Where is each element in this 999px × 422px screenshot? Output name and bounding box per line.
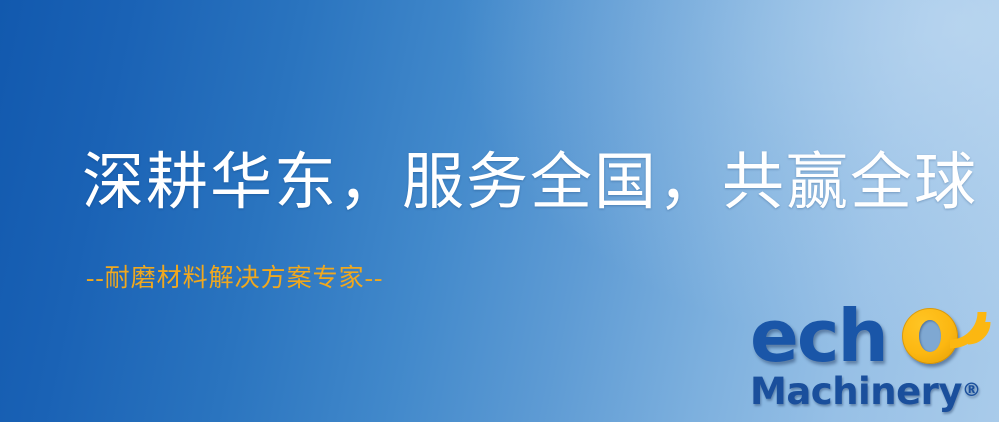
logo-wordmark-letters: ech (750, 300, 887, 372)
echo-wave-icon (940, 294, 999, 356)
registered-trademark-icon: ® (962, 379, 981, 401)
echo-machinery-logo[interactable]: ech Machinery® (744, 296, 999, 422)
logo-wordmark: ech (750, 296, 999, 374)
logo-tagline-text: Machinery (750, 370, 962, 413)
logo-o-letter (902, 308, 966, 370)
hero-banner: 深耕华东，服务全国，共赢全球 --耐磨材料解决方案专家-- ech Mac (0, 0, 999, 422)
banner-headline: 深耕华东，服务全国，共赢全球 (82, 152, 978, 214)
banner-subheadline: --耐磨材料解决方案专家-- (86, 266, 383, 291)
logo-tagline: Machinery® (750, 370, 981, 412)
